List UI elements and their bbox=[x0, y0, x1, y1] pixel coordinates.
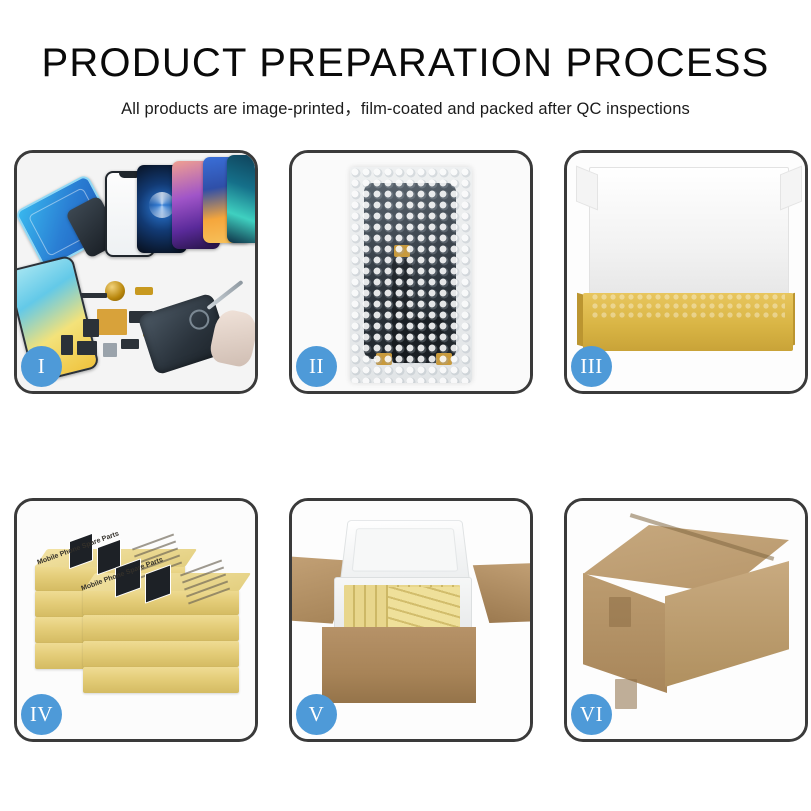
step-badge-5: V bbox=[296, 694, 337, 735]
steps-grid: I II bbox=[14, 150, 807, 742]
bubble-wrap-padding bbox=[591, 293, 785, 319]
step-badge-1: I bbox=[21, 346, 62, 387]
header: PRODUCT PREPARATION PROCESS All products… bbox=[0, 0, 811, 119]
outer-carton-body bbox=[322, 627, 476, 703]
step-panel-1: I bbox=[14, 150, 258, 394]
step-badge-2: II bbox=[296, 346, 337, 387]
vibrator-part bbox=[121, 339, 139, 349]
mailer-box-lid bbox=[589, 167, 789, 301]
product-preparation-infographic: PRODUCT PREPARATION PROCESS All products… bbox=[0, 0, 811, 811]
earpiece-part bbox=[81, 293, 107, 298]
carton-flap-right bbox=[473, 563, 530, 623]
gold-connector-part bbox=[135, 287, 153, 295]
chip-array-part bbox=[97, 309, 127, 335]
retail-box bbox=[83, 615, 239, 641]
step-panel-3: III bbox=[564, 150, 808, 394]
button-part bbox=[103, 343, 117, 357]
step-panel-4: Mobile Phone Spare Parts Mobile Phone Sp… bbox=[14, 498, 258, 742]
bubble-wrap-bag bbox=[350, 167, 472, 383]
carton-left-face bbox=[583, 573, 667, 693]
small-bracket-part bbox=[83, 319, 99, 337]
step-badge-3: III bbox=[571, 346, 612, 387]
retail-box-stack: Mobile Phone Spare Parts Mobile Phone Sp… bbox=[27, 519, 247, 719]
tweezers-tool bbox=[206, 280, 243, 310]
camera-module-part bbox=[77, 341, 97, 355]
step-badge-6: VI bbox=[571, 694, 612, 735]
page-title: PRODUCT PREPARATION PROCESS bbox=[0, 42, 811, 84]
carton-tape-patch-upper bbox=[609, 597, 631, 627]
carton-tape-patch-lower bbox=[615, 679, 637, 709]
step-panel-2: II bbox=[289, 150, 533, 394]
foam-box-lid bbox=[340, 520, 470, 581]
phone-teal-wallpaper bbox=[227, 155, 255, 243]
page-subtitle: All products are image-printed，film-coat… bbox=[0, 95, 811, 119]
bubble-texture bbox=[350, 167, 472, 383]
step-badge-4: IV bbox=[21, 694, 62, 735]
step-panel-6: VI bbox=[564, 498, 808, 742]
speaker-coil-part bbox=[105, 281, 125, 301]
step-panel-5: V bbox=[289, 498, 533, 742]
retail-box bbox=[83, 667, 239, 693]
retail-box bbox=[83, 641, 239, 667]
packed-retail-boxes-second-row bbox=[388, 587, 460, 627]
sim-tray-part bbox=[61, 335, 73, 355]
